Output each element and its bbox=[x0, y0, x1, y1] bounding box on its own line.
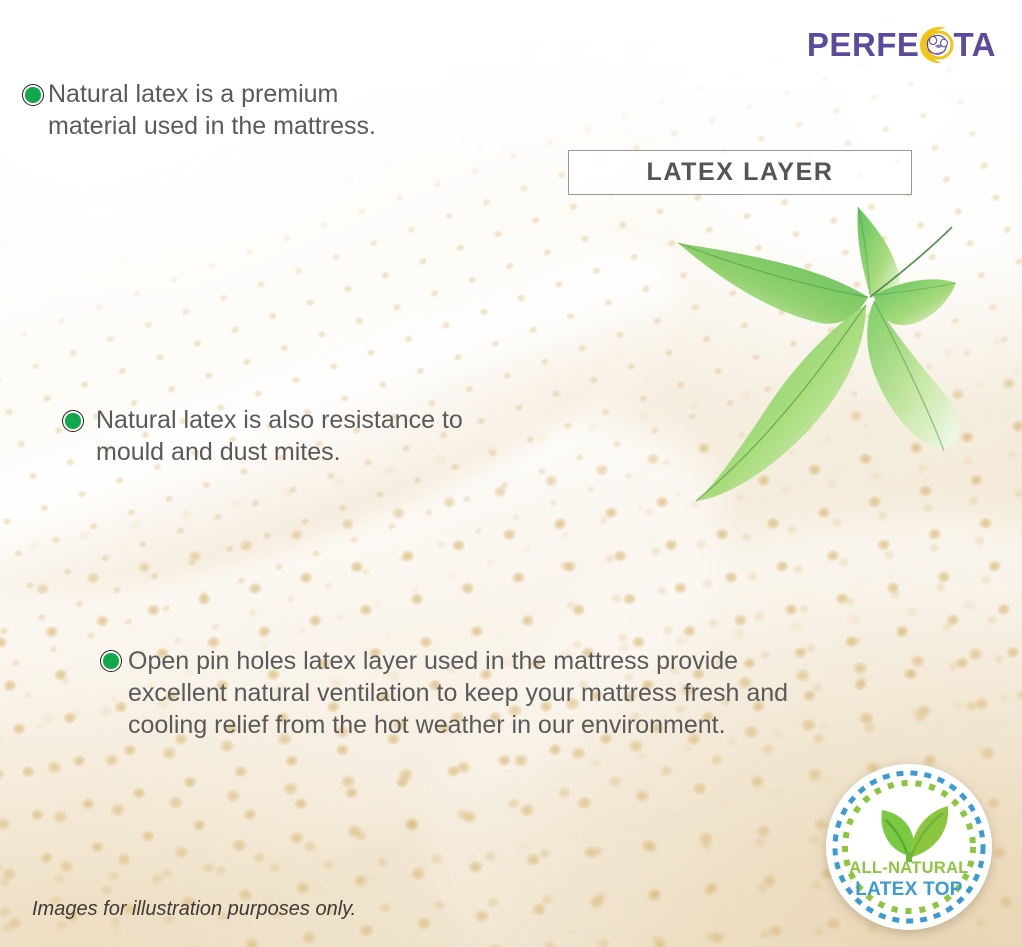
bullet-line: Open pin holes latex layer used in the m… bbox=[128, 645, 984, 677]
bullet-item-3-text: Open pin holes latex layer used in the m… bbox=[128, 645, 984, 741]
bullet-line: Natural latex is a premium bbox=[48, 78, 478, 110]
bullet-item-1: Natural latex is a premium material used… bbox=[22, 78, 502, 142]
latex-layer-title-box: LATEX LAYER bbox=[568, 150, 912, 195]
bullet-line: cooling relief from the hot weather in o… bbox=[128, 709, 984, 741]
bullet-line: excellent natural ventilation to keep yo… bbox=[128, 677, 984, 709]
page-title: LATEX LAYER bbox=[646, 158, 833, 187]
brand-logo: PERFE TA bbox=[807, 20, 996, 68]
crescent-moon-koala-icon bbox=[916, 22, 956, 66]
green-dot-bullet-icon bbox=[100, 650, 122, 672]
logo-text-left: PERFE bbox=[807, 28, 920, 61]
bullet-item-1-text: Natural latex is a premium material used… bbox=[48, 78, 478, 142]
all-natural-latex-top-badge: ALL-NATURAL LATEX TOP bbox=[826, 764, 992, 930]
badge-rings-and-leaves bbox=[826, 764, 992, 930]
bullet-line: material used in the mattress. bbox=[48, 110, 478, 142]
illustration-disclaimer: Images for illustration purposes only. bbox=[32, 898, 356, 921]
badge-line-all-natural: ALL-NATURAL bbox=[826, 860, 992, 877]
bullet-item-3: Open pin holes latex layer used in the m… bbox=[100, 645, 1000, 741]
bullet-item-2: Natural latex is also resistance to moul… bbox=[62, 404, 622, 468]
bullet-item-2-text: Natural latex is also resistance to moul… bbox=[96, 404, 600, 468]
green-dot-bullet-icon bbox=[62, 410, 84, 432]
two-leaves-icon bbox=[881, 806, 948, 862]
badge-line-latex-top: LATEX TOP bbox=[826, 880, 992, 900]
bullet-line: Natural latex is also resistance to bbox=[96, 404, 600, 436]
logo-text-right: TA bbox=[953, 28, 996, 61]
latex-layer-infographic: PERFE TA LATEX LAYER Natural latex is a … bbox=[0, 0, 1022, 947]
green-dot-bullet-icon bbox=[22, 84, 44, 106]
bullet-line: mould and dust mites. bbox=[96, 436, 600, 468]
